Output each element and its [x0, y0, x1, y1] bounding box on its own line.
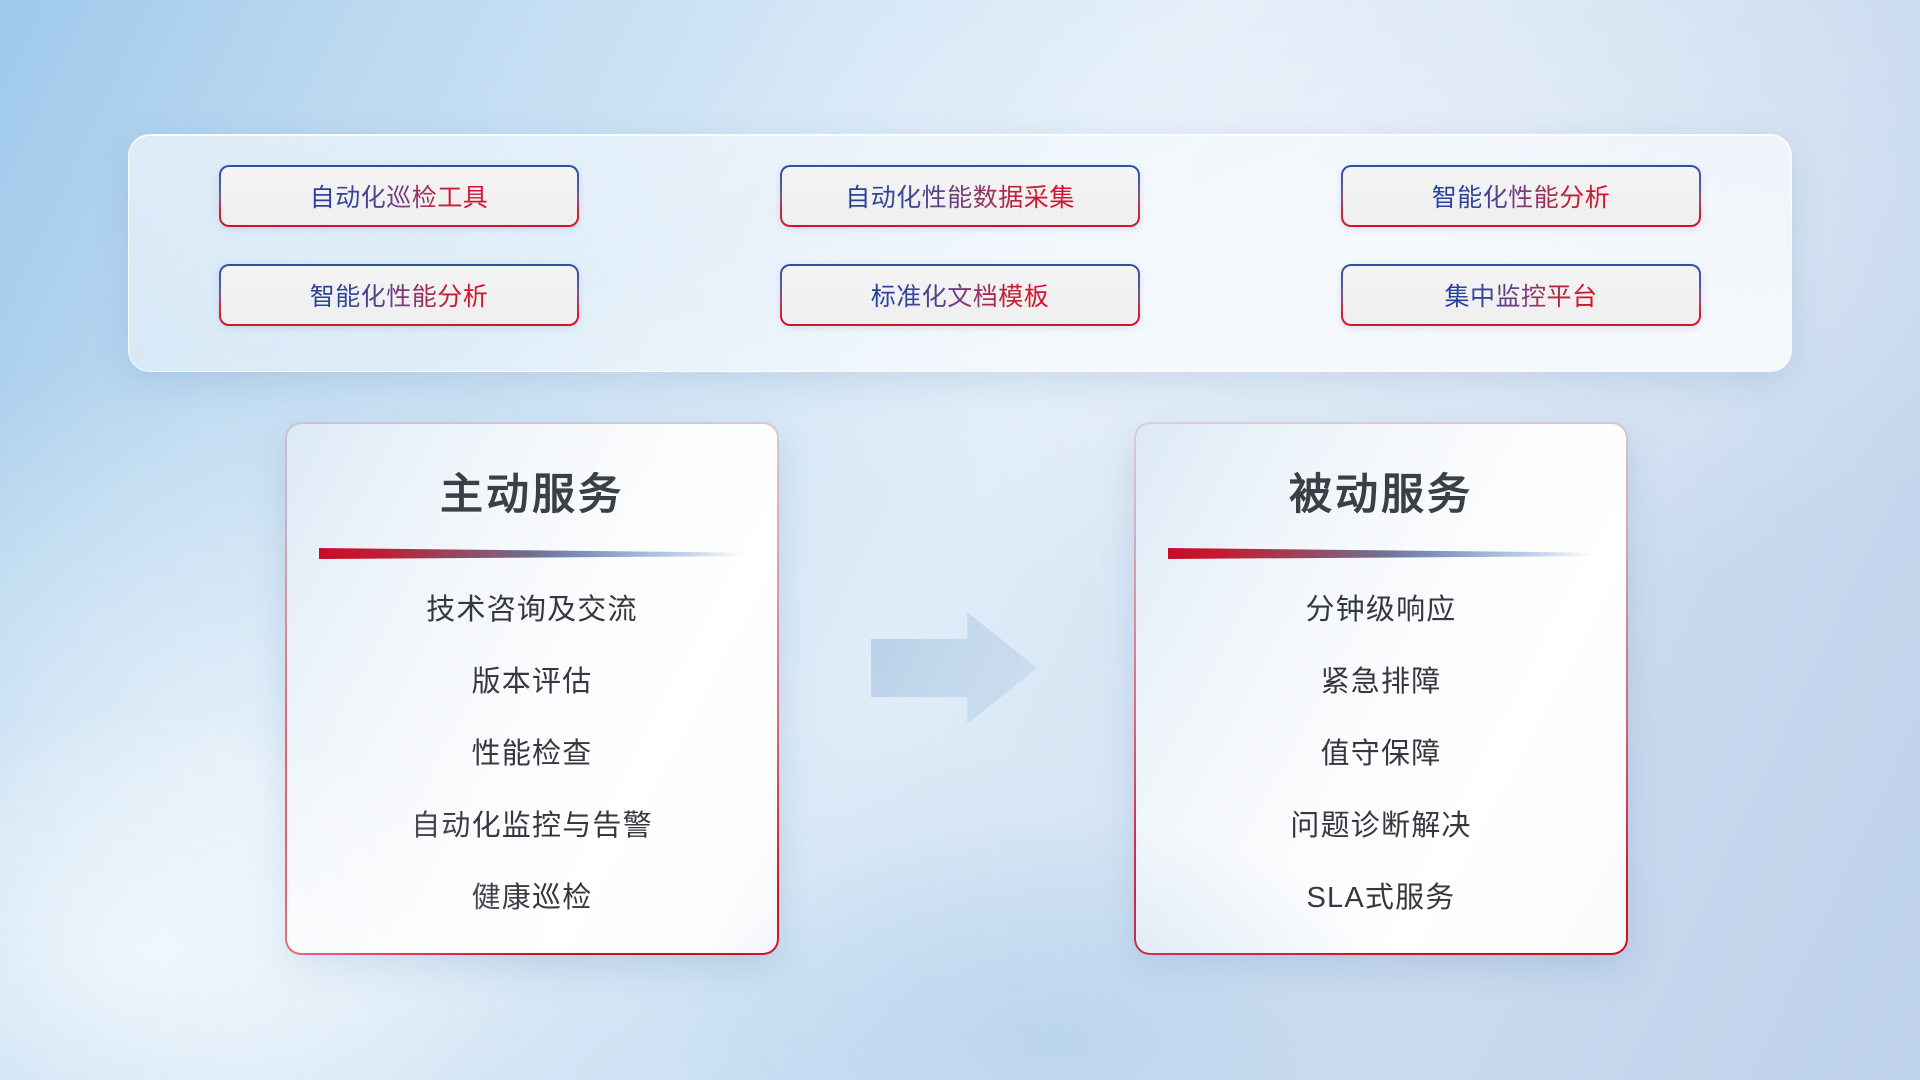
capability-pill-body: 智能化性能分析	[1343, 167, 1699, 225]
capability-pill-label: 智能化性能分析	[1432, 178, 1611, 214]
capability-pill[interactable]: 智能化性能分析	[219, 264, 579, 326]
service-card-body: 主动服务 技术咨询及交流 版本评估 性能检查 自动化监控与告警 健康巡检	[287, 424, 777, 953]
capability-pill-body: 集中监控平台	[1343, 266, 1699, 324]
title-divider	[1168, 546, 1594, 562]
capability-pill-label: 标准化文档模板	[871, 277, 1050, 313]
service-item-list: 技术咨询及交流 版本评估 性能检查 自动化监控与告警 健康巡检	[287, 586, 777, 916]
title-divider-bar	[1168, 548, 1594, 559]
service-list-item: 性能检查	[472, 730, 593, 772]
capability-pill-body: 自动化巡检工具	[221, 167, 577, 225]
service-card-passive[interactable]: 被动服务 分钟级响应 紧急排障 值守保障 问题诊断解决 SLA式服务	[1134, 422, 1628, 955]
service-card-active[interactable]: 主动服务 技术咨询及交流 版本评估 性能检查 自动化监控与告警 健康巡检	[285, 422, 779, 955]
capability-pill[interactable]: 自动化性能数据采集	[780, 165, 1140, 227]
service-list-item: 分钟级响应	[1305, 586, 1456, 628]
service-list-item: 值守保障	[1321, 730, 1442, 772]
service-list-item: 健康巡检	[472, 874, 593, 916]
capability-pill-body: 标准化文档模板	[782, 266, 1138, 324]
arrow-right-icon	[871, 612, 1037, 724]
capability-pill[interactable]: 标准化文档模板	[780, 264, 1140, 326]
capability-pill-label: 智能化性能分析	[310, 277, 489, 313]
capability-pill[interactable]: 自动化巡检工具	[219, 165, 579, 227]
capabilities-grid: 自动化巡检工具 自动化性能数据采集 智能化性能分析 智能化性能分析	[129, 135, 1791, 371]
service-list-item: 紧急排障	[1321, 658, 1442, 700]
capability-pill[interactable]: 集中监控平台	[1341, 264, 1701, 326]
service-card-body: 被动服务 分钟级响应 紧急排障 值守保障 问题诊断解决 SLA式服务	[1136, 424, 1626, 953]
service-item-list: 分钟级响应 紧急排障 值守保障 问题诊断解决 SLA式服务	[1136, 586, 1626, 916]
service-list-item: 问题诊断解决	[1290, 802, 1471, 844]
capability-pill[interactable]: 智能化性能分析	[1341, 165, 1701, 227]
service-list-item: 技术咨询及交流	[426, 586, 637, 628]
diagram-canvas: 自动化巡检工具 自动化性能数据采集 智能化性能分析 智能化性能分析	[0, 0, 1920, 1080]
capability-pill-body: 自动化性能数据采集	[782, 167, 1138, 225]
capability-pill-label: 自动化性能数据采集	[845, 178, 1075, 214]
title-divider-bar	[319, 548, 745, 559]
capability-pill-label: 集中监控平台	[1444, 277, 1597, 313]
service-list-item: 版本评估	[472, 658, 593, 700]
service-list-item: SLA式服务	[1306, 874, 1455, 916]
capability-pill-label: 自动化巡检工具	[310, 178, 489, 214]
service-card-title: 被动服务	[1289, 460, 1473, 522]
service-list-item: 自动化监控与告警	[411, 802, 653, 844]
service-card-title: 主动服务	[440, 460, 624, 522]
title-divider	[319, 546, 745, 562]
capability-pill-body: 智能化性能分析	[221, 266, 577, 324]
capabilities-panel: 自动化巡检工具 自动化性能数据采集 智能化性能分析 智能化性能分析	[128, 134, 1792, 372]
